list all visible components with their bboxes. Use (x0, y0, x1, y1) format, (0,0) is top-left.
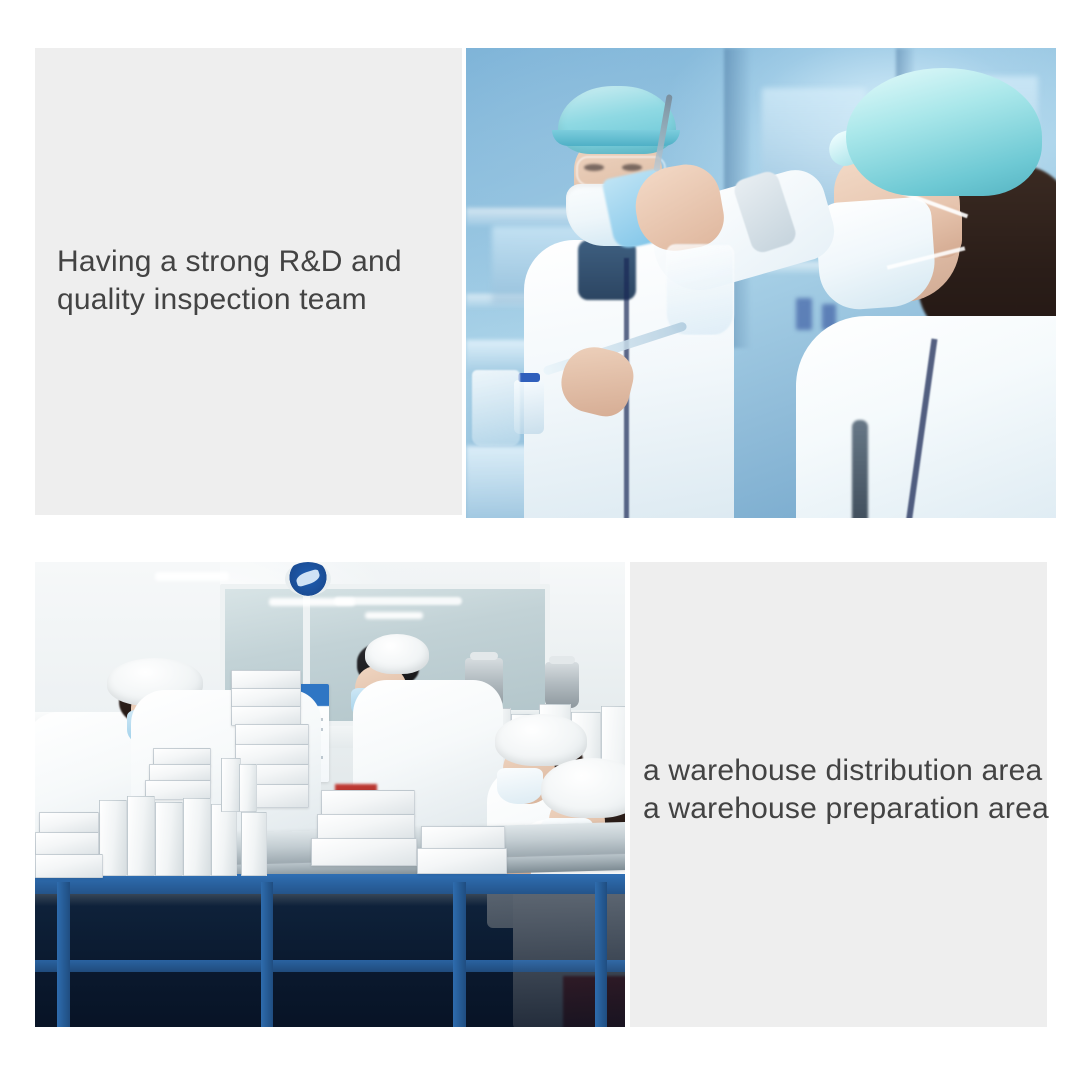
carton-upright (127, 796, 155, 876)
table-leg (595, 882, 607, 1027)
equipment-pole (852, 420, 868, 518)
carton-upright (211, 804, 237, 876)
carton-bottle (221, 758, 241, 812)
ceiling-light-right (365, 612, 423, 619)
carton-upright (183, 798, 211, 876)
steel-pot-right (545, 662, 579, 708)
carton-box (35, 854, 103, 878)
carton-box (311, 838, 417, 866)
carton-bottle (239, 764, 257, 812)
carton-upright (155, 802, 183, 876)
table-leg (261, 882, 273, 1027)
under-table-shadow (35, 874, 625, 1027)
top-caption: Having a strong R&D and quality inspecti… (57, 243, 402, 319)
rd-quality-inspection-lab-photo (466, 48, 1056, 518)
carton-box (321, 790, 415, 816)
bottom-caption: a warehouse distribution area a warehous… (643, 752, 1049, 828)
glass-flask (666, 244, 734, 336)
carton-box (35, 832, 99, 856)
carton-box (231, 706, 301, 726)
carton-box (235, 724, 309, 746)
bottom-caption-line-2: a warehouse preparation area (643, 790, 1049, 828)
worker-right-face-mask (814, 196, 937, 312)
blue-circular-sign (285, 562, 331, 596)
worker-2-hairnet (365, 634, 429, 674)
ceiling-light-left (155, 572, 229, 581)
table-leg (453, 882, 466, 1027)
bottom-caption-line-1: a warehouse distribution area (643, 752, 1049, 790)
worker-4-hairnet (541, 758, 625, 818)
table-leg (57, 882, 70, 1027)
carton-upright (241, 812, 267, 876)
carton-upright (99, 800, 127, 876)
worker-3-face-mask (497, 768, 543, 804)
worker-3-hairnet (495, 714, 587, 766)
worker-right-hairnet (846, 68, 1042, 196)
carton-box (231, 670, 301, 690)
top-caption-line-1: Having a strong R&D and (57, 243, 402, 281)
carton-box (421, 826, 505, 850)
table-blue-rail (35, 874, 625, 894)
carton-box (317, 814, 415, 840)
carton-box (235, 744, 309, 766)
lab-blue-vial (796, 298, 812, 330)
warehouse-packing-area-photo (35, 562, 625, 1027)
top-caption-line-2: quality inspection team (57, 281, 402, 319)
glass-beaker (472, 370, 520, 446)
carton-box (417, 848, 507, 874)
table-blue-rail-lower (35, 960, 625, 972)
carton-box (231, 688, 301, 708)
ceiling-light-mid (269, 598, 355, 606)
carton-box (39, 812, 99, 834)
